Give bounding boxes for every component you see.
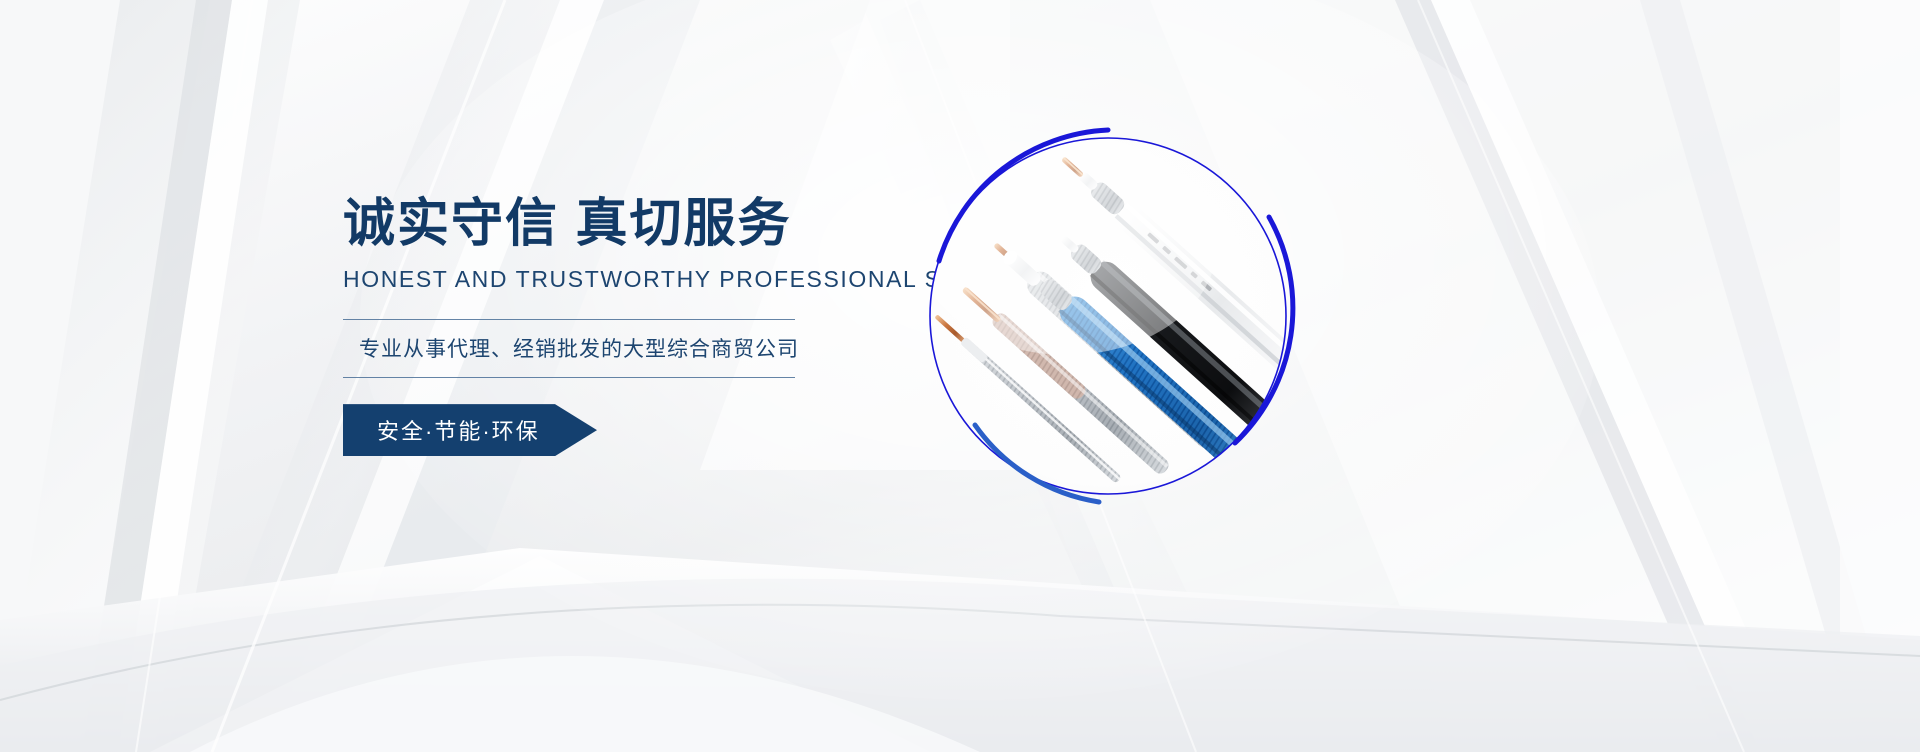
divider-top	[343, 319, 795, 320]
hero-text-block: 诚实守信 真切服务 HONEST AND TRUSTWORTHY PROFESS…	[343, 196, 863, 456]
cable-photo	[917, 125, 1313, 507]
hero-banner: 诚实守信 真切服务 HONEST AND TRUSTWORTHY PROFESS…	[0, 0, 1920, 752]
status-badge: 安全·节能·环保	[343, 414, 540, 446]
medallion-svg	[917, 125, 1299, 507]
ribbon-shape: 安全·节能·环保	[343, 404, 597, 456]
feature-ribbon: 安全·节能·环保	[343, 404, 597, 456]
product-medallion	[917, 125, 1299, 507]
divider-bottom	[343, 377, 795, 378]
page-title: 诚实守信 真切服务	[343, 196, 863, 252]
tagline: 专业从事代理、经销批发的大型综合商贸公司	[343, 320, 863, 377]
subtitle-english: HONEST AND TRUSTWORTHY PROFESSIONAL SERV…	[343, 266, 863, 293]
